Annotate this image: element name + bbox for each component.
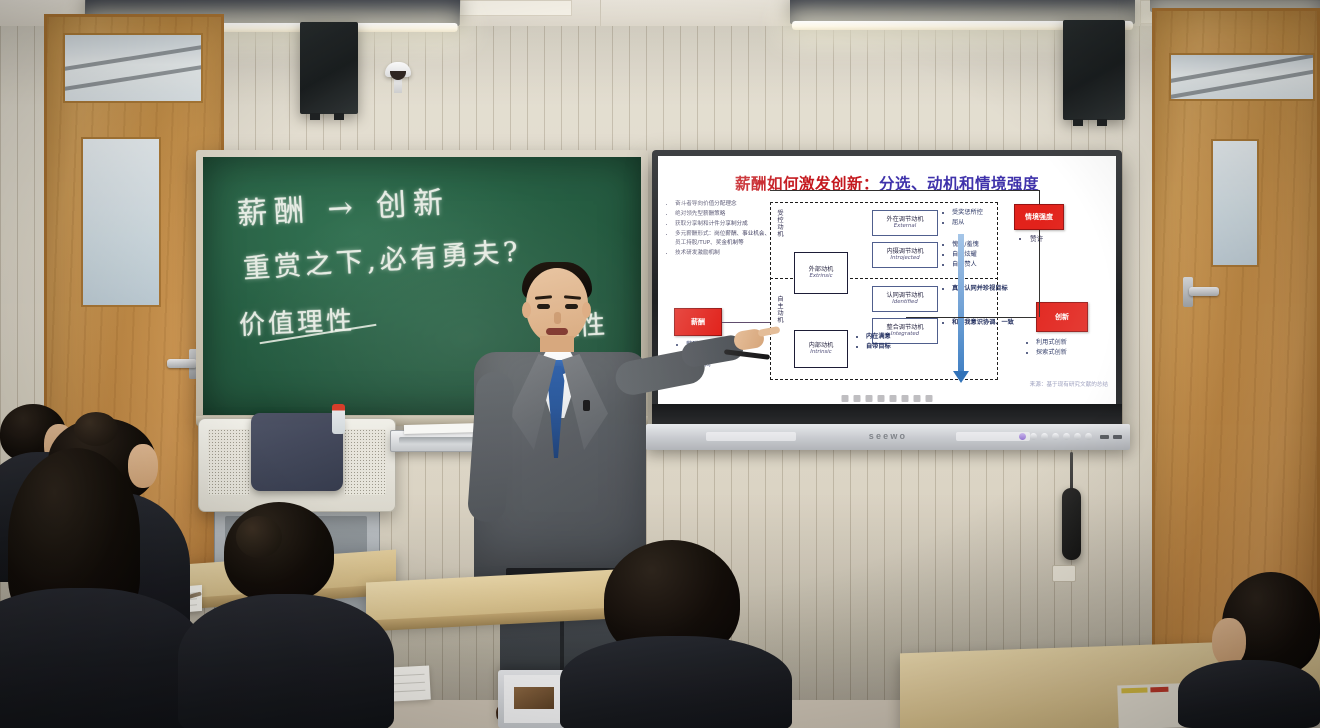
student-face bbox=[1212, 618, 1246, 666]
extrinsic-motivation-box: 外部动机 Extrinsic bbox=[794, 252, 848, 294]
connector-context-up bbox=[1039, 190, 1040, 204]
left-door-window bbox=[81, 137, 161, 307]
connector-frame-to-innovation bbox=[906, 317, 1036, 318]
eraser-icon[interactable] bbox=[902, 395, 909, 402]
slide-source-note: 来源：基于现有研究文献的总结 bbox=[1030, 380, 1108, 388]
screen-icon[interactable] bbox=[914, 395, 921, 402]
intrinsic-motivation-box: 内部动机 Intrinsic bbox=[794, 330, 848, 368]
menu-button[interactable] bbox=[1041, 433, 1048, 440]
regulation-box-introjected: 内摄调节动机 Introjected bbox=[872, 242, 938, 268]
connector-pay-to-frame bbox=[722, 322, 770, 323]
presentation-toolbar[interactable] bbox=[842, 395, 933, 402]
box-label-cn: 内摄调节动机 bbox=[886, 248, 923, 255]
list-item: 自带目标 bbox=[866, 342, 936, 352]
right-door-transom bbox=[1169, 53, 1315, 101]
box-label-en: Introjected bbox=[890, 255, 919, 261]
overhead-projector bbox=[198, 418, 396, 512]
whiteboard-chin bbox=[652, 404, 1122, 426]
continuum-arrow-icon bbox=[958, 234, 964, 372]
hdmi-port-icon bbox=[1113, 435, 1122, 439]
classroom-scene: 薪酬 → 创新 重赏之下,必有勇夫? 价值理性 理性 薪酬如何激发创新：分选、动… bbox=[0, 0, 1320, 728]
box-label-cn: 外在调节动机 bbox=[886, 216, 923, 223]
list-item: 技术研发激励机制 bbox=[675, 249, 773, 258]
regulation-notes-identified: 真挚认同并珍视目标 bbox=[944, 284, 1018, 294]
innovation-red-box: 创新 bbox=[1036, 302, 1088, 332]
list-item: 多元薪酬形式：岗位薪酬、事业机会、员工持股/TUP、奖金机制等 bbox=[675, 230, 773, 247]
highlighter-icon[interactable] bbox=[878, 395, 885, 402]
right-door-handle[interactable] bbox=[1189, 287, 1219, 296]
slide-left-bullets: 奋斗者导向价值分配理念 绝对领先型薪酬策略 获取分享制和计件分享制分成 多元薪酬… bbox=[666, 200, 773, 259]
regulation-box-identified: 认同调节动机 Identified bbox=[872, 286, 938, 312]
regulation-notes-intrinsic: 内在满意 自带目标 bbox=[858, 332, 936, 352]
power-button[interactable] bbox=[1019, 433, 1026, 440]
whiteboard-ports bbox=[1100, 435, 1122, 439]
student-torso bbox=[1178, 660, 1320, 728]
context-strength-red-box: 情境强度 bbox=[1014, 204, 1064, 230]
dome-camera-icon bbox=[385, 62, 411, 84]
autonomous-motivation-label: 自主动机 bbox=[776, 296, 785, 325]
innovation-sublist: 利用式创新 探索式创新 bbox=[1028, 338, 1116, 358]
list-item: 获取分享制和计件分享制分成 bbox=[675, 220, 773, 229]
pen-icon[interactable] bbox=[866, 395, 873, 402]
box-label-cn: 内部动机 bbox=[809, 342, 834, 349]
lapel-microphone bbox=[583, 400, 590, 411]
whiteboard-buttons[interactable] bbox=[1019, 433, 1092, 440]
ceiling-panel bbox=[450, 0, 572, 16]
list-item: 利用式创新 bbox=[1036, 338, 1116, 348]
back-button[interactable] bbox=[1085, 433, 1092, 440]
volume-down-button[interactable] bbox=[1052, 433, 1059, 440]
regulation-notes-introjected: 愧疚/羞愧 自我炫耀 自我赞人 bbox=[944, 240, 1018, 271]
box-label-cn: 认同调节动机 bbox=[886, 292, 923, 299]
controlled-motivation-label: 受控动机 bbox=[776, 210, 785, 239]
box-label-cn: 整合调节动机 bbox=[886, 324, 923, 331]
box-label-en: External bbox=[894, 223, 916, 229]
box-label-cn: 外部动机 bbox=[809, 266, 834, 273]
list-item: 探索式创新 bbox=[1036, 348, 1116, 358]
wall-speaker-left bbox=[300, 22, 358, 114]
interactive-whiteboard[interactable]: 薪酬如何激发创新：分选、动机和情境强度 奋斗者导向价值分配理念 绝对领先型薪酬策… bbox=[652, 150, 1122, 426]
more-icon[interactable] bbox=[926, 395, 933, 402]
power-outlet[interactable] bbox=[1052, 565, 1076, 582]
connector-context-down bbox=[1039, 230, 1040, 317]
presentation-slide: 薪酬如何激发创新：分选、动机和情境强度 奋斗者导向价值分配理念 绝对领先型薪酬策… bbox=[658, 156, 1116, 404]
list-item: 受奖惩所控 bbox=[952, 208, 1018, 218]
regulation-box-external: 外在调节动机 External bbox=[872, 210, 938, 236]
whiteboard-screen[interactable]: 薪酬如何激发创新：分选、动机和情境强度 奋斗者导向价值分配理念 绝对领先型薪酬策… bbox=[658, 156, 1116, 404]
source-button[interactable] bbox=[1030, 433, 1037, 440]
student-face bbox=[128, 444, 158, 488]
list-item: 绝对领先型薪酬策略 bbox=[675, 210, 773, 219]
list-item: 屈从 bbox=[952, 218, 1018, 228]
regulation-notes-integrated: 和自我意识协调、一致 bbox=[944, 318, 1018, 328]
list-item: 奋斗者导向价值分配理念 bbox=[675, 200, 773, 209]
shapes-icon[interactable] bbox=[890, 395, 897, 402]
student-torso bbox=[0, 588, 206, 728]
usb-port-icon bbox=[1100, 435, 1109, 439]
list-item: 内在满意 bbox=[866, 332, 936, 342]
student-torso bbox=[178, 594, 394, 728]
left-door-upper-window bbox=[63, 33, 203, 103]
whiteboard-bezel-bar: seewo bbox=[646, 424, 1130, 450]
cursor-icon[interactable] bbox=[842, 395, 849, 402]
stylus-pen[interactable] bbox=[1062, 488, 1081, 560]
list-item: 赞许 bbox=[1030, 233, 1108, 246]
pages-icon[interactable] bbox=[854, 395, 861, 402]
home-button[interactable] bbox=[1074, 433, 1081, 440]
box-label-en: Identified bbox=[892, 299, 918, 305]
wall-speaker-right bbox=[1063, 20, 1125, 120]
connector-top-rail bbox=[770, 190, 1040, 191]
student-torso bbox=[560, 636, 792, 728]
student-hair-bun bbox=[74, 412, 118, 446]
left-door-handle[interactable] bbox=[167, 359, 197, 368]
student-hair-bun bbox=[236, 516, 282, 558]
box-label-en: Extrinsic bbox=[809, 273, 832, 279]
regulation-notes-external: 受奖惩所控 屈从 bbox=[944, 208, 1018, 228]
volume-up-button[interactable] bbox=[1063, 433, 1070, 440]
student-hair bbox=[224, 502, 334, 602]
water-bottle bbox=[332, 404, 345, 434]
box-label-en: Intrinsic bbox=[810, 349, 832, 355]
right-door-window bbox=[1211, 139, 1259, 267]
